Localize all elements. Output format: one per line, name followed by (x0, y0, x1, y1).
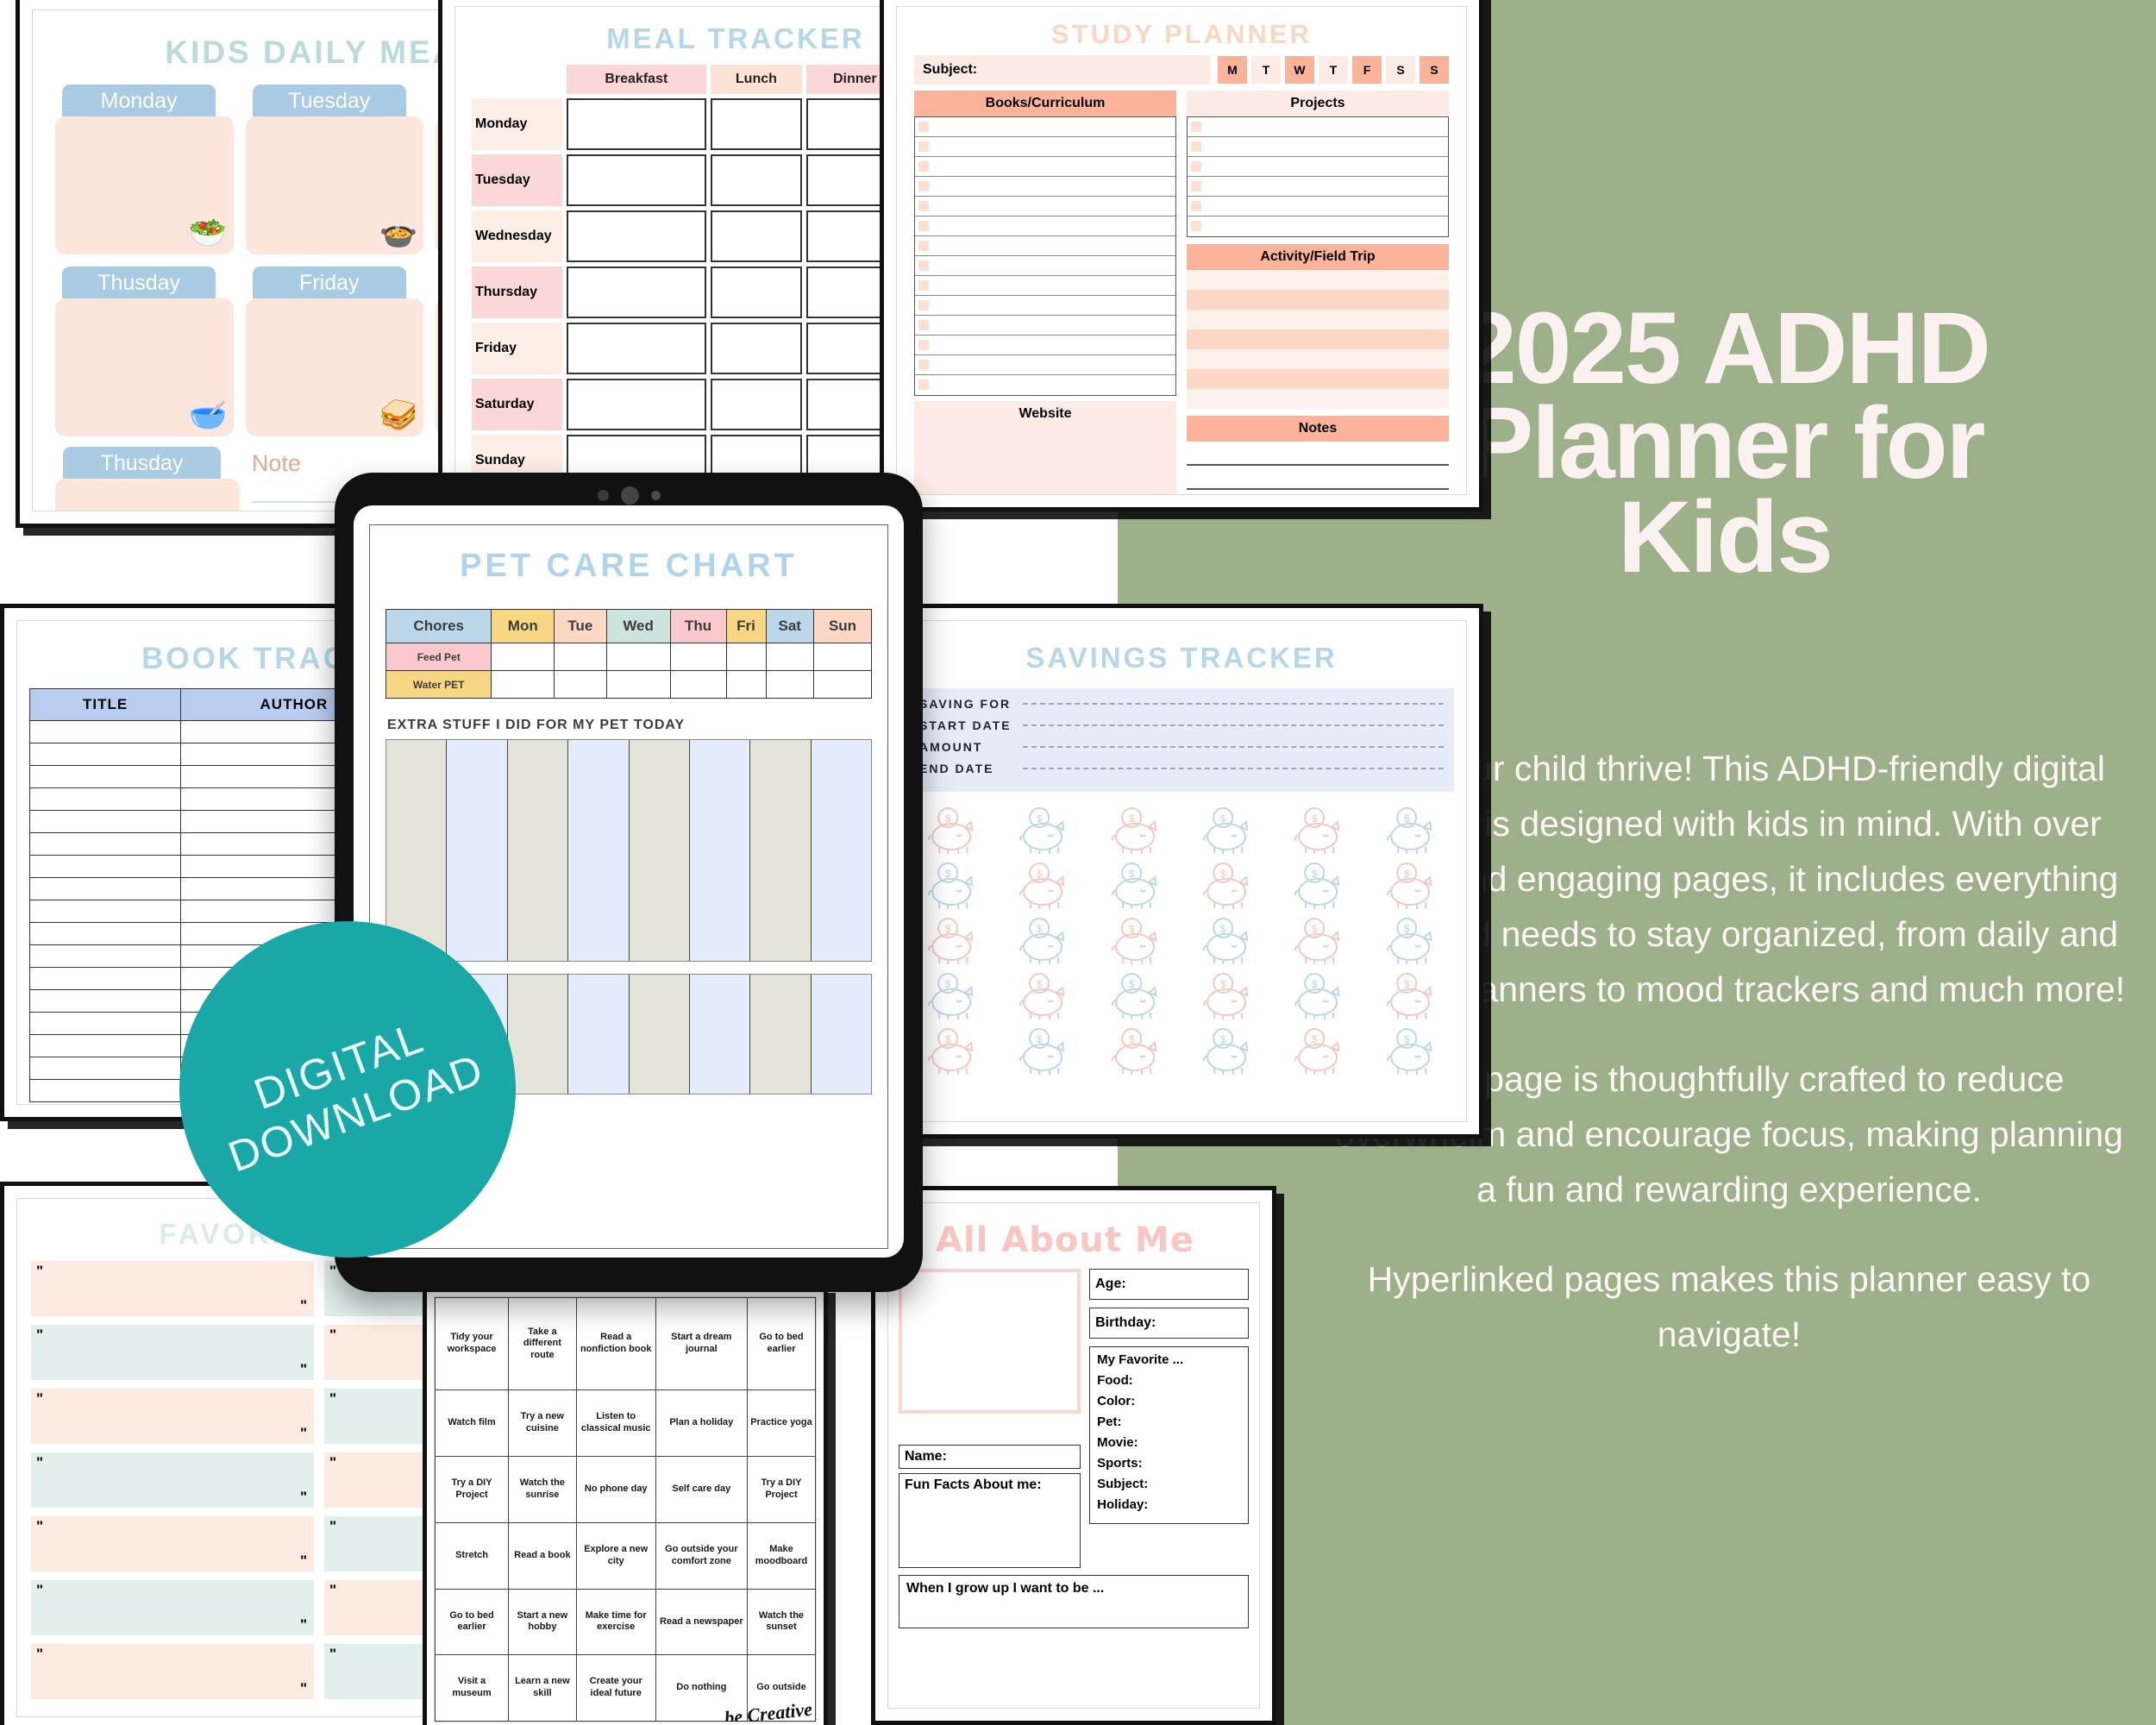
pet-chore-row: Feed Pet (386, 643, 872, 671)
bingo-cell[interactable]: Explore a new city (576, 1522, 655, 1589)
quote-close-mark: " (300, 1552, 307, 1570)
bingo-cell[interactable]: Read a nonfiction book (576, 1298, 655, 1390)
weekday-5[interactable]: S (1386, 56, 1415, 84)
chore-check-cell[interactable] (555, 671, 607, 699)
chore-check-cell[interactable] (726, 643, 766, 671)
bingo-cell[interactable]: Go to bed earlier (747, 1298, 815, 1390)
extra-stuff-label: EXTRA STUFF I DID FOR MY PET TODAY (387, 718, 887, 733)
list-row[interactable] (915, 375, 1175, 395)
chore-check-cell[interactable] (606, 643, 670, 671)
bingo-cell[interactable]: Make moodboard (747, 1522, 815, 1589)
pet-column-header: Wed (606, 610, 670, 643)
bingo-cell[interactable]: Read a book (509, 1522, 577, 1589)
piggy-bank-icon: $ (1091, 804, 1181, 857)
chore-check-cell[interactable] (555, 643, 607, 671)
quote-open-mark: " (329, 1327, 336, 1344)
piggy-bank-icon: $ (1091, 1025, 1181, 1078)
bingo-cell[interactable]: Watch the sunset (747, 1589, 815, 1655)
website-field[interactable] (914, 427, 1176, 495)
quote-close-mark: " (300, 1361, 307, 1378)
svg-text:$: $ (1037, 812, 1043, 825)
bingo-row: Try a DIY ProjectWatch the sunriseNo pho… (436, 1457, 816, 1523)
list-row[interactable] (915, 236, 1175, 256)
bingo-row: Watch filmTry a new cuisineListen to cla… (436, 1390, 816, 1457)
quote-open-mark: " (329, 1454, 336, 1471)
page-title: All About Me (888, 1220, 1259, 1260)
favorite-item[interactable]: Subject: (1097, 1477, 1241, 1491)
title-cell[interactable] (30, 856, 181, 878)
quote-open-mark: " (329, 1390, 336, 1408)
extra-column[interactable] (447, 740, 507, 961)
svg-text:$: $ (1037, 978, 1043, 990)
meal-cell[interactable] (711, 210, 802, 262)
quote-open-mark: " (36, 1518, 43, 1535)
meal-row-label: Saturday (472, 379, 562, 430)
piggy-bank-icon: $ (1182, 914, 1272, 968)
chore-check-cell[interactable] (766, 671, 814, 699)
piggy-bank-icon: $ (1366, 1025, 1456, 1078)
bingo-cell[interactable]: Plan a holiday (655, 1390, 747, 1457)
activity-row[interactable] (1187, 310, 1449, 329)
favorite-item[interactable]: Movie: (1097, 1435, 1241, 1450)
meal-day-cell: Friday🥪 (246, 267, 424, 436)
bingo-cell[interactable]: Try a DIY Project (436, 1457, 509, 1523)
extra-column[interactable] (630, 740, 690, 961)
activity-header: Activity/Field Trip (1187, 244, 1449, 270)
list-row[interactable] (1188, 157, 1448, 177)
product-listing-canvas: 2025 ADHD Planner for Kids Help your chi… (0, 0, 2156, 1725)
bingo-cell[interactable]: Make time for exercise (576, 1589, 655, 1655)
piggy-bank-icon: $ (1182, 969, 1272, 1023)
quote-close-mark: " (300, 1425, 307, 1442)
svg-text:$: $ (945, 923, 951, 935)
bingo-cell[interactable]: Take a different route (509, 1298, 577, 1390)
tablet-camera-row (335, 486, 923, 505)
piggy-bank-icon: $ (1274, 1025, 1363, 1078)
extra-column[interactable] (750, 975, 811, 1094)
bingo-cell[interactable]: Start a new hobby (509, 1589, 577, 1655)
list-row[interactable] (915, 296, 1175, 316)
title-cell[interactable] (30, 811, 181, 833)
quote-open-mark: " (36, 1327, 43, 1344)
svg-text:$: $ (1128, 812, 1134, 825)
meal-row-label: Friday (472, 323, 562, 374)
piggy-bank-icon: $ (1091, 859, 1181, 913)
activity-row[interactable] (1187, 270, 1449, 290)
bingo-row: Go to bed earlierStart a new hobbyMake t… (436, 1589, 816, 1655)
list-row[interactable] (915, 157, 1175, 177)
food-icon: 🥗 (189, 215, 228, 251)
svg-text:$: $ (1312, 1033, 1318, 1045)
quote-close-mark: " (300, 1297, 307, 1314)
digital-download-badge: DIGITAL DOWNLOAD (179, 921, 516, 1258)
activity-row[interactable] (1187, 369, 1449, 389)
meal-row-label: Monday (472, 98, 562, 150)
mic-icon (651, 491, 661, 500)
meal-cell[interactable] (567, 379, 706, 430)
bingo-cell[interactable]: No phone day (576, 1457, 655, 1523)
chore-check-cell[interactable] (492, 671, 555, 699)
title-cell[interactable] (30, 1080, 181, 1102)
piggy-bank-icon: $ (1274, 804, 1363, 857)
extra-column[interactable] (630, 975, 690, 1094)
svg-text:$: $ (1037, 1033, 1043, 1045)
quote-open-mark: " (329, 1518, 336, 1535)
savings-field[interactable]: SAVING FOR (919, 697, 1444, 711)
meal-cell[interactable] (711, 98, 802, 150)
list-row[interactable] (915, 137, 1175, 157)
favorite-item[interactable]: Food: (1097, 1373, 1241, 1388)
svg-text:$: $ (1220, 812, 1226, 825)
savings-fields[interactable]: SAVING FORSTART DATEAMOUNTEND DATE (909, 688, 1454, 792)
list-row[interactable] (915, 316, 1175, 336)
svg-text:$: $ (1220, 923, 1226, 935)
list-row[interactable] (1188, 197, 1448, 216)
svg-text:$: $ (1220, 868, 1226, 880)
books-curriculum-header: Books/Curriculum (914, 91, 1176, 116)
list-row[interactable] (915, 355, 1175, 375)
bingo-cell[interactable]: Try a DIY Project (747, 1457, 815, 1523)
bingo-cell[interactable]: Tidy your workspace (436, 1298, 509, 1390)
food-icon: 🥪 (379, 397, 418, 433)
bingo-cell[interactable]: Read a newspaper (655, 1589, 747, 1655)
piggy-bank-icon: $ (1182, 1025, 1272, 1078)
meal-day-box[interactable]: 🍲 (246, 116, 424, 254)
svg-text:$: $ (1128, 978, 1134, 990)
meal-day-box[interactable]: 🥗 (55, 116, 234, 254)
pet-column-header: Sun (814, 610, 872, 643)
extra-column[interactable] (508, 740, 568, 961)
pet-care-table: ChoresMonTueWedThuFriSatSunFeed PetWater… (385, 609, 872, 699)
pet-column-header: Tue (555, 610, 607, 643)
piggy-bank-icon: $ (1091, 969, 1181, 1023)
quote-open-mark: " (36, 1263, 43, 1280)
title-cell[interactable] (30, 878, 181, 900)
piggy-bank-icon: $ (999, 914, 1088, 968)
list-row[interactable] (1188, 177, 1448, 197)
piggy-bank-grid[interactable]: $$$$$$$$$$$$$$$$$$$$$$$$$$$$$$ (897, 792, 1466, 1090)
favorite-item[interactable]: Holiday: (1097, 1497, 1241, 1512)
piggy-bank-icon: $ (1274, 859, 1363, 913)
bingo-cell[interactable]: Stretch (436, 1522, 509, 1589)
chore-check-cell[interactable] (492, 643, 555, 671)
quote-open-mark: " (36, 1646, 43, 1663)
weekday-1[interactable]: T (1251, 56, 1281, 84)
list-row[interactable] (915, 197, 1175, 216)
svg-text:$: $ (1037, 923, 1043, 935)
piggy-bank-icon: $ (1182, 804, 1272, 857)
photo-placeholder[interactable] (899, 1269, 1081, 1414)
savings-field[interactable]: END DATE (919, 762, 1444, 775)
meal-day-box[interactable]: 🥣 (55, 298, 234, 436)
svg-text:$: $ (945, 978, 951, 990)
meal-cell[interactable] (567, 435, 706, 474)
quote-close-mark: " (300, 1489, 307, 1506)
favorite-item[interactable]: Pet: (1097, 1414, 1241, 1429)
projects-list[interactable] (1187, 116, 1449, 237)
savings-field-label: AMOUNT (919, 740, 1023, 754)
favorite-item[interactable]: Color: (1097, 1394, 1241, 1408)
list-row[interactable] (915, 336, 1175, 355)
note-line[interactable] (1187, 490, 1449, 495)
list-row[interactable] (915, 117, 1175, 137)
meal-cell[interactable] (567, 154, 706, 206)
grow-up-field[interactable]: When I grow up I want to be ... (899, 1575, 1249, 1628)
quote-close-mark: " (300, 1680, 307, 1697)
extra-column[interactable] (568, 740, 629, 961)
activity-row[interactable] (1187, 290, 1449, 310)
bingo-cell[interactable]: Try a new cuisine (509, 1390, 577, 1457)
meal-column-header: Lunch (711, 65, 802, 94)
svg-text:$: $ (1312, 868, 1318, 880)
title-cell[interactable] (30, 743, 181, 766)
weekday-3[interactable]: T (1319, 56, 1348, 84)
list-row[interactable] (1188, 117, 1448, 137)
birthday-field[interactable]: Birthday: (1089, 1308, 1249, 1339)
notes-header: Notes (1187, 416, 1449, 442)
bingo-grid: Tidy your workspaceTake a different rout… (435, 1297, 816, 1722)
page-title: STUDY PLANNER (897, 19, 1466, 50)
name-field[interactable]: Name: (899, 1445, 1081, 1469)
bingo-cell[interactable]: Self care day (655, 1457, 747, 1523)
svg-text:$: $ (1403, 868, 1409, 880)
quote-open-mark: " (36, 1582, 43, 1599)
piggy-bank-icon: $ (1274, 969, 1363, 1023)
extra-column[interactable] (568, 975, 629, 1094)
quote-box[interactable]: "" (31, 1261, 314, 1316)
bingo-cell[interactable]: Listen to classical music (576, 1390, 655, 1457)
quote-box[interactable]: "" (31, 1325, 314, 1380)
projects-header: Projects (1187, 91, 1449, 116)
chore-label: Feed Pet (386, 643, 492, 671)
svg-text:$: $ (1403, 1033, 1409, 1045)
book-column-header: TITLE (30, 689, 181, 721)
piggy-bank-icon: $ (1091, 914, 1181, 968)
meal-day-tab: Thusday (62, 267, 216, 298)
svg-text:$: $ (1037, 868, 1043, 880)
study-columns: Books/Curriculum Website Projects Activi… (897, 85, 1466, 495)
extra-column[interactable] (750, 740, 811, 961)
piggy-bank-icon: $ (999, 1025, 1088, 1078)
title-cell[interactable] (30, 833, 181, 856)
camera-icon (621, 486, 639, 505)
chore-check-cell[interactable] (606, 671, 670, 699)
bingo-cell[interactable]: Watch the sunrise (509, 1457, 577, 1523)
meal-day-tab: Monday (62, 85, 216, 116)
page-study-planner[interactable]: STUDY PLANNER Subject: MTWTFSS Books/Cur… (880, 0, 1483, 511)
savings-field[interactable]: AMOUNT (919, 740, 1444, 754)
note-line[interactable] (1187, 442, 1449, 466)
weekday-6[interactable]: S (1420, 56, 1449, 84)
page-all-about-me[interactable]: All About Me Name: Fun Facts About me: A… (871, 1186, 1276, 1725)
svg-text:$: $ (1403, 923, 1409, 935)
pet-chore-row: Water PET (386, 671, 872, 699)
svg-text:$: $ (1220, 1033, 1226, 1045)
savings-field-label: END DATE (919, 762, 1023, 775)
page-activity-bingo[interactable]: Tidy your workspaceTake a different rout… (423, 1285, 828, 1725)
page-title: PET CARE CHART (370, 548, 887, 585)
meal-row-label: Wednesday (472, 210, 562, 262)
meal-day-box[interactable]: 🥪 (246, 298, 424, 436)
quote-box[interactable]: "" (31, 1516, 314, 1571)
meal-cell[interactable] (567, 98, 706, 150)
title-cell[interactable] (30, 923, 181, 945)
meal-cell[interactable] (711, 379, 802, 430)
list-row[interactable] (1188, 216, 1448, 236)
weekday-4[interactable]: F (1352, 56, 1382, 84)
quote-box[interactable]: "" (31, 1580, 314, 1635)
subject-field[interactable]: Subject: (914, 55, 1211, 85)
extra-column[interactable] (812, 740, 871, 961)
books-curriculum-list[interactable] (914, 116, 1176, 396)
svg-text:$: $ (1128, 868, 1134, 880)
pet-column-header: Mon (492, 610, 555, 643)
title-cell[interactable] (30, 1013, 181, 1035)
title-cell[interactable] (30, 968, 181, 990)
bingo-cell[interactable]: Create your ideal future (576, 1655, 655, 1722)
quote-open-mark: " (36, 1454, 43, 1471)
meal-day-tab: Thusday (63, 447, 222, 479)
meal-cell[interactable] (711, 267, 802, 318)
list-row[interactable] (915, 276, 1175, 296)
list-row[interactable] (1188, 137, 1448, 157)
svg-text:$: $ (1128, 923, 1134, 935)
notes-lines[interactable] (1187, 442, 1449, 495)
bingo-cell[interactable]: Practice yoga (747, 1390, 815, 1457)
meal-cell[interactable] (567, 323, 706, 374)
svg-text:$: $ (1312, 812, 1318, 825)
title-cell[interactable] (30, 900, 181, 923)
extra-column[interactable] (690, 975, 750, 1094)
note-line[interactable] (1187, 466, 1449, 490)
quote-box[interactable]: "" (31, 1644, 314, 1699)
extra-column[interactable] (812, 975, 871, 1094)
quote-box[interactable]: "" (31, 1452, 314, 1508)
title-cell[interactable] (30, 1035, 181, 1057)
chore-check-cell[interactable] (814, 671, 872, 699)
quote-open-mark: " (329, 1646, 336, 1663)
extra-column[interactable] (508, 975, 568, 1094)
food-icon: 🍲 (379, 215, 418, 251)
study-subject-row: Subject: MTWTFSS (897, 50, 1466, 85)
piggy-bank-icon: $ (999, 804, 1088, 857)
bingo-cell[interactable]: Go outside your comfort zone (655, 1522, 747, 1589)
savings-field-label: SAVING FOR (919, 697, 1023, 711)
chore-check-cell[interactable] (814, 643, 872, 671)
meal-row-label: Tuesday (472, 154, 562, 206)
savings-field[interactable]: START DATE (919, 718, 1444, 732)
quote-open-mark: " (329, 1582, 336, 1599)
svg-text:$: $ (1312, 923, 1318, 935)
age-field[interactable]: Age: (1089, 1269, 1249, 1300)
page-savings-tracker[interactable]: SAVINGS TRACKER SAVING FORSTART DATEAMOU… (880, 604, 1483, 1138)
promo-paragraph-3: Hyperlinked pages makes this planner eas… (1332, 1252, 2126, 1363)
chore-check-cell[interactable] (670, 671, 726, 699)
weekday-selector[interactable]: MTWTFSS (1218, 56, 1449, 84)
list-row[interactable] (915, 177, 1175, 197)
website-header: Website (914, 401, 1176, 427)
meal-cell[interactable] (567, 267, 706, 318)
bingo-row: Tidy your workspaceTake a different rout… (436, 1298, 816, 1390)
bingo-cell[interactable]: Learn a new skill (509, 1655, 577, 1722)
bingo-cell[interactable]: Go to bed earlier (436, 1589, 509, 1655)
quote-box[interactable]: "" (31, 1389, 314, 1444)
piggy-bank-icon: $ (1366, 804, 1456, 857)
title-cell[interactable] (30, 1057, 181, 1080)
my-favorite-header: My Favorite ... (1097, 1352, 1241, 1367)
list-row[interactable] (915, 216, 1175, 236)
svg-text:$: $ (945, 812, 951, 825)
weekday-2[interactable]: W (1285, 56, 1314, 84)
piggy-bank-icon: $ (1274, 914, 1363, 968)
quote-open-mark: " (36, 1390, 43, 1408)
chore-check-cell[interactable] (670, 643, 726, 671)
svg-text:$: $ (945, 868, 951, 880)
chore-check-cell[interactable] (766, 643, 814, 671)
title-cell[interactable] (30, 945, 181, 968)
bingo-cell[interactable]: Watch film (436, 1390, 509, 1457)
meal-day-cell: Tuesday🍲 (246, 85, 424, 254)
favorite-item[interactable]: Sports: (1097, 1456, 1241, 1471)
pet-column-header: Sat (766, 610, 814, 643)
meal-column-header: Breakfast (567, 65, 706, 94)
list-row[interactable] (915, 256, 1175, 276)
title-cell[interactable] (30, 990, 181, 1013)
svg-text:$: $ (1403, 812, 1409, 825)
meal-day-box[interactable]: 🥗 (55, 479, 240, 511)
activity-list[interactable] (1187, 270, 1449, 409)
meal-cell[interactable] (711, 435, 802, 474)
piggy-bank-icon: $ (1366, 859, 1456, 913)
svg-text:$: $ (1403, 978, 1409, 990)
savings-field-label: START DATE (919, 718, 1023, 732)
extra-stuff-columns[interactable] (385, 739, 872, 962)
meal-row-label: Thursday (472, 267, 562, 318)
title-cell[interactable] (30, 766, 181, 788)
chore-check-cell[interactable] (726, 671, 766, 699)
bingo-cell[interactable]: Start a dream journal (655, 1298, 747, 1390)
sensor-icon (598, 490, 609, 501)
svg-text:$: $ (1220, 978, 1226, 990)
meal-row-label: Sunday (472, 435, 562, 474)
piggy-bank-icon: $ (1366, 969, 1456, 1023)
meal-cell[interactable] (567, 210, 706, 262)
piggy-bank-icon: $ (1366, 914, 1456, 968)
meal-day-cell: Monday🥗 (55, 85, 234, 254)
bingo-cell[interactable]: Visit a museum (436, 1655, 509, 1722)
title-cell[interactable] (30, 721, 181, 743)
quote-open-mark: " (329, 1263, 336, 1280)
bingo-row: StretchRead a bookExplore a new cityGo o… (436, 1522, 816, 1589)
title-cell[interactable] (30, 788, 181, 811)
fun-facts-field[interactable]: Fun Facts About me: (899, 1473, 1081, 1568)
meal-cell[interactable] (711, 154, 802, 206)
activity-row[interactable] (1187, 349, 1449, 369)
meal-cell[interactable] (711, 323, 802, 374)
svg-text:$: $ (945, 1033, 951, 1045)
meal-day-cell: Thusday🥣 (55, 267, 234, 436)
extra-column[interactable] (690, 740, 750, 961)
pet-column-header: Chores (386, 610, 492, 643)
weekday-0[interactable]: M (1218, 56, 1247, 84)
pet-column-header: Fri (726, 610, 766, 643)
activity-row[interactable] (1187, 389, 1449, 409)
my-favorite-box[interactable]: My Favorite ... Food:Color:Pet:Movie:Spo… (1089, 1346, 1249, 1524)
quote-close-mark: " (300, 1616, 307, 1634)
activity-row[interactable] (1187, 329, 1449, 349)
svg-text:$: $ (1312, 978, 1318, 990)
meal-day-tab: Tuesday (253, 85, 406, 116)
